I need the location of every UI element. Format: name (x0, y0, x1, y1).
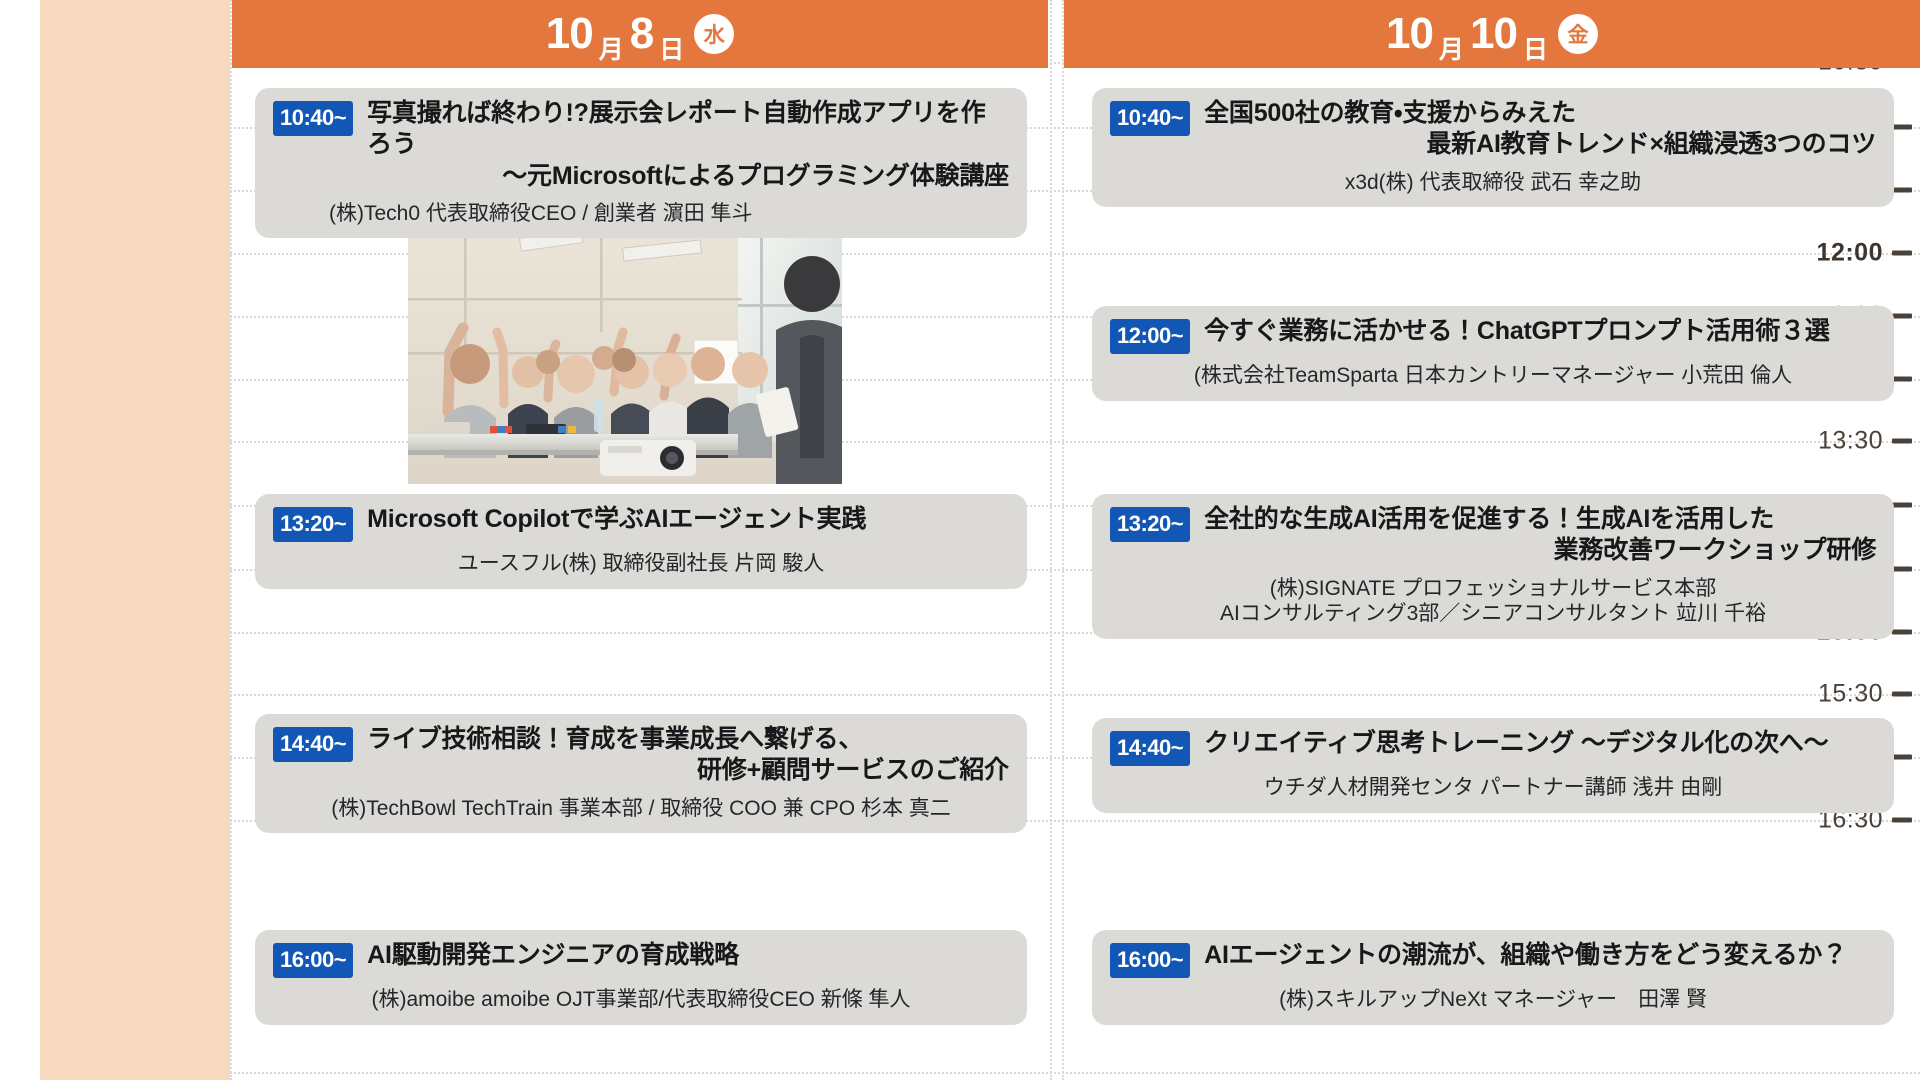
session-card-header: 13:20~全社的な生成AI活用を促進する！生成AIを活用した業務改善ワークショ… (1110, 504, 1876, 567)
schedule-root: 10:3011:0011:3012:0012:3013:0013:3014:00… (0, 0, 1920, 1080)
time-tick-13-30: 13:30 (1818, 427, 1912, 456)
session-time-badge: 14:40~ (1110, 731, 1190, 766)
session-title: Microsoft Copilotで学ぶAIエージェント実践 (367, 504, 1009, 535)
session-time-badge: 13:20~ (273, 507, 353, 542)
session-speaker-line-1: (株)スキルアップNeXt マネージャー 田澤 賢 (1110, 987, 1876, 1013)
time-tick-dash (1892, 125, 1912, 130)
time-tick-dash (1892, 503, 1912, 508)
session-time-badge: 14:40~ (273, 727, 353, 762)
session-card[interactable]: 12:00~今すぐ業務に活かせる！ChatGPTプロンプト活用術３選(株式会社T… (1092, 306, 1894, 401)
column-divider-left (230, 0, 232, 1080)
session-speaker-line-1: (株)amoibe amoibe OJT事業部/代表取締役CEO 新條 隼人 (273, 987, 1009, 1013)
session-speaker: ウチダ人材開発センタ パートナー講師 浅井 由剛 (1110, 775, 1876, 801)
session-title-line-2: 業務改善ワークショップ研修 (1204, 535, 1876, 566)
time-tick-15-30: 15:30 (1818, 680, 1912, 709)
header-day-unit: 日 (659, 38, 684, 68)
time-tick-dash (1892, 314, 1912, 319)
session-card[interactable]: 16:00~AIエージェントの潮流が、組織や働き方をどう変えるか？(株)スキルア… (1092, 930, 1894, 1025)
day-header-oct-8: 10 月 8 日 水 (232, 0, 1048, 68)
session-speaker: ユースフル(株) 取締役副社長 片岡 駿人 (273, 551, 1009, 577)
session-card-header: 14:40~クリエイティブ思考トレーニング ～デジタル化の次へ～ (1110, 728, 1876, 766)
day-of-week-badge: 金 (1558, 14, 1598, 54)
session-title-line-1: AI駆動開発エンジニアの育成戦略 (367, 941, 739, 969)
time-tick-dash (1892, 439, 1912, 444)
time-tick-dash (1892, 567, 1912, 572)
session-speaker-line-1: (株)Tech0 代表取締役CEO / 創業者 濵田 隼斗 (329, 201, 1009, 227)
session-speaker: (株)Tech0 代表取締役CEO / 創業者 濵田 隼斗 (273, 201, 1009, 227)
session-title: 全社的な生成AI活用を促進する！生成AIを活用した業務改善ワークショップ研修 (1204, 504, 1876, 567)
session-speaker: (株)TechBowl TechTrain 事業本部 / 取締役 COO 兼 C… (273, 796, 1009, 822)
header-day-number: 8 (630, 12, 653, 56)
header-month-number: 10 (546, 12, 593, 56)
session-speaker-line-1: x3d(株) 代表取締役 武石 幸之助 (1110, 170, 1876, 196)
seminar-photo (408, 212, 842, 484)
session-title-line-1: AIエージェントの潮流が、組織や働き方をどう変えるか？ (1204, 941, 1847, 969)
time-tick-dash (1892, 188, 1912, 193)
session-title: AIエージェントの潮流が、組織や働き方をどう変えるか？ (1204, 940, 1876, 971)
session-card-header: 16:00~AI駆動開発エンジニアの育成戦略 (273, 940, 1009, 978)
session-title-line-1: Microsoft Copilotで学ぶAIエージェント実践 (367, 505, 866, 533)
time-tick-dash (1892, 251, 1912, 256)
session-time-badge: 16:00~ (273, 943, 353, 978)
session-title: 全国500社の教育・支援からみえた最新AI教育トレンド×組織浸透3つのコツ (1204, 98, 1876, 161)
column-divider-middle-2 (1062, 0, 1064, 1080)
session-speaker: x3d(株) 代表取締役 武石 幸之助 (1110, 170, 1876, 196)
session-time-badge: 10:40~ (273, 101, 353, 136)
grid-line-bottom (230, 1072, 1920, 1074)
session-title: クリエイティブ思考トレーニング ～デジタル化の次へ～ (1204, 728, 1876, 759)
session-title-line-1: 今すぐ業務に活かせる！ChatGPTプロンプト活用術３選 (1204, 317, 1830, 345)
time-gutter (40, 0, 230, 1080)
time-tick-dash (1892, 630, 1912, 635)
session-card[interactable]: 14:40~ライブ技術相談！育成を事業成長へ繋げる、研修+顧問サービスのご紹介(… (255, 714, 1027, 833)
session-speaker-line-1: ユースフル(株) 取締役副社長 片岡 駿人 (273, 551, 1009, 577)
time-tick-dash (1892, 818, 1912, 823)
session-time-badge: 13:20~ (1110, 507, 1190, 542)
header-month-number: 10 (1386, 12, 1433, 56)
session-card[interactable]: 10:40~全国500社の教育・支援からみえた最新AI教育トレンド×組織浸透3つ… (1092, 88, 1894, 207)
session-title: AI駆動開発エンジニアの育成戦略 (367, 940, 1009, 971)
session-title-line-2: 研修+顧問サービスのご紹介 (367, 755, 1009, 786)
session-title-line-2: ～元Microsoftによるプログラミング体験講座 (367, 161, 1009, 192)
session-speaker-line-1: (株式会社TeamSparta 日本カントリーマネージャー 小荒田 倫人 (1110, 363, 1876, 389)
header-month-unit: 月 (1439, 38, 1464, 68)
session-card-header: 13:20~Microsoft Copilotで学ぶAIエージェント実践 (273, 504, 1009, 542)
session-title: ライブ技術相談！育成を事業成長へ繋げる、研修+顧問サービスのご紹介 (367, 724, 1009, 787)
time-tick-label: 12:00 (1817, 239, 1883, 268)
grid-line-15-30 (230, 694, 1920, 696)
session-speaker: (株式会社TeamSparta 日本カントリーマネージャー 小荒田 倫人 (1110, 363, 1876, 389)
session-speaker-line-1: ウチダ人材開発センタ パートナー講師 浅井 由剛 (1110, 775, 1876, 801)
session-card-header: 12:00~今すぐ業務に活かせる！ChatGPTプロンプト活用術３選 (1110, 316, 1876, 354)
session-title-line-1: 全社的な生成AI活用を促進する！生成AIを活用した (1204, 505, 1774, 533)
session-title: 今すぐ業務に活かせる！ChatGPTプロンプト活用術３選 (1204, 316, 1876, 347)
session-card[interactable]: 14:40~クリエイティブ思考トレーニング ～デジタル化の次へ～ウチダ人材開発セ… (1092, 718, 1894, 813)
session-time-badge: 10:40~ (1110, 101, 1190, 136)
day-of-week-badge: 水 (694, 14, 734, 54)
time-tick-label: 15:30 (1818, 680, 1883, 709)
header-day-unit: 日 (1523, 38, 1548, 68)
session-time-badge: 16:00~ (1110, 943, 1190, 978)
session-card-header: 14:40~ライブ技術相談！育成を事業成長へ繋げる、研修+顧問サービスのご紹介 (273, 724, 1009, 787)
session-speaker-line-1: (株)SIGNATE プロフェッショナルサービス本部 (1110, 576, 1876, 602)
session-speaker-line-1: (株)TechBowl TechTrain 事業本部 / 取締役 COO 兼 C… (273, 796, 1009, 822)
session-card[interactable]: 13:20~全社的な生成AI活用を促進する！生成AIを活用した業務改善ワークショ… (1092, 494, 1894, 639)
session-card-header: 10:40~写真撮れば終わり!?展示会レポート自動作成アプリを作ろう～元Micr… (273, 98, 1009, 192)
time-tick-dash (1892, 692, 1912, 697)
header-month-unit: 月 (599, 38, 624, 68)
session-card-header: 10:40~全国500社の教育・支援からみえた最新AI教育トレンド×組織浸透3つ… (1110, 98, 1876, 161)
session-card[interactable]: 13:20~Microsoft Copilotで学ぶAIエージェント実践ユースフ… (255, 494, 1027, 589)
session-title: 写真撮れば終わり!?展示会レポート自動作成アプリを作ろう～元Microsoftに… (367, 98, 1009, 192)
session-title-line-1: 全国500社の教育・支援からみえた (1204, 99, 1576, 127)
session-title-line-1: クリエイティブ思考トレーニング ～デジタル化の次へ～ (1204, 729, 1828, 757)
session-title-line-2: 最新AI教育トレンド×組織浸透3つのコツ (1204, 129, 1876, 160)
session-title-line-1: ライブ技術相談！育成を事業成長へ繋げる、 (367, 725, 863, 753)
session-speaker-line-2: AIコンサルティング3部／シニアコンサルタント 竝川 千裕 (1110, 601, 1876, 627)
session-card-header: 16:00~AIエージェントの潮流が、組織や働き方をどう変えるか？ (1110, 940, 1876, 978)
session-title-line-1: 写真撮れば終わり!?展示会レポート自動作成アプリを作ろう (367, 99, 985, 158)
session-card[interactable]: 16:00~AI駆動開発エンジニアの育成戦略(株)amoibe amoibe O… (255, 930, 1027, 1025)
session-speaker: (株)スキルアップNeXt マネージャー 田澤 賢 (1110, 987, 1876, 1013)
time-tick-label: 13:30 (1818, 427, 1883, 456)
header-day-number: 10 (1470, 12, 1517, 56)
session-time-badge: 12:00~ (1110, 319, 1190, 354)
session-speaker: (株)amoibe amoibe OJT事業部/代表取締役CEO 新條 隼人 (273, 987, 1009, 1013)
time-tick-dash (1892, 755, 1912, 760)
day-header-oct-10: 10 月 10 日 金 (1064, 0, 1920, 68)
session-card[interactable]: 10:40~写真撮れば終わり!?展示会レポート自動作成アプリを作ろう～元Micr… (255, 88, 1027, 238)
column-divider-middle (1050, 0, 1052, 1080)
time-tick-12-00: 12:00 (1817, 239, 1912, 268)
time-tick-dash (1892, 377, 1912, 382)
session-speaker: (株)SIGNATE プロフェッショナルサービス本部AIコンサルティング3部／シ… (1110, 576, 1876, 627)
